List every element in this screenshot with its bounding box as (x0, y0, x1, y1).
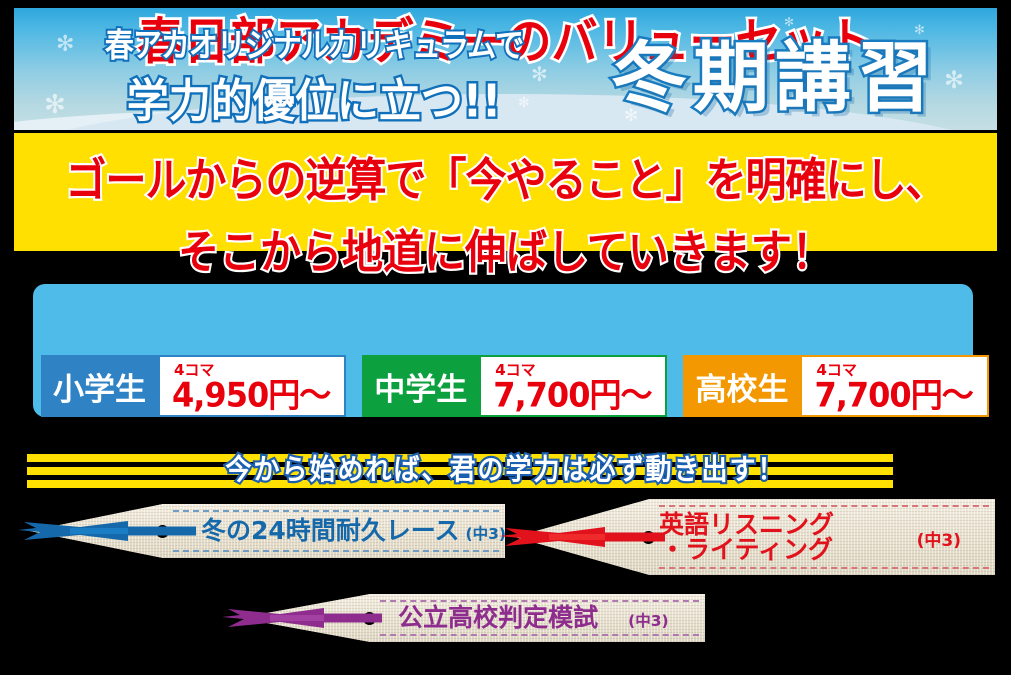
hero-subtitle: 春アカオリジナルカリキュラムで 学力的優位に立つ!! (88, 22, 540, 128)
course-tag-label: 冬の24時間耐久レース(中3) (201, 518, 506, 544)
price-card-grade-label: 小学生 (41, 355, 158, 417)
course-tag-note: (中3) (628, 612, 668, 630)
course-tag-label: 英語リスニング ・ライティング (659, 512, 834, 563)
course-tag-label: 公立高校判定模試(中3) (398, 605, 668, 631)
tag-hole (363, 612, 376, 625)
price-card-high-school[interactable]: 高校生 4コマ 7,700円〜 (683, 355, 988, 417)
poster-canvas: ✻ ✻ ✻ ✻ ✻ ✻ ✻ ✻ ✻ 春アカオリジナルカリキュラムで 学力的優位に… (0, 0, 1011, 675)
course-tag-english-listening-writing[interactable]: 英語リスニング ・ライティング (中3) (515, 499, 995, 575)
hero-subtitle-line1: 春アカオリジナルカリキュラムで (88, 19, 540, 67)
course-tag-title: 公立高校判定模試 (398, 603, 598, 632)
course-tag-title-line1: 英語リスニング (659, 512, 834, 538)
course-tag-note: (中3) (466, 525, 506, 543)
course-tag-endurance-race[interactable]: 冬の24時間耐久レース(中3) (30, 504, 505, 558)
price-card-grade-label: 中学生 (362, 355, 479, 417)
price-card-amount: 7,700円〜 (814, 378, 972, 412)
price-card-elementary[interactable]: 小学生 4コマ 4,950円〜 (41, 355, 346, 417)
course-tag-body: 冬の24時間耐久レース(中3) (30, 504, 505, 558)
price-card-amount: 4,950円〜 (172, 378, 330, 412)
hero-banner: ✻ ✻ ✻ ✻ ✻ ✻ ✻ ✻ ✻ 春アカオリジナルカリキュラムで 学力的優位に… (14, 8, 997, 130)
price-card-junior-high[interactable]: 中学生 4コマ 7,700円〜 (362, 355, 667, 417)
course-tag-body: 英語リスニング ・ライティング (中3) (515, 499, 995, 575)
course-tag-title-line2: ・ライティング (660, 537, 833, 563)
tag-hole (156, 525, 169, 538)
snowflake-icon: ✻ (44, 92, 66, 118)
stitch-line (380, 600, 700, 602)
stitch-line (380, 634, 700, 636)
course-tag-note: (中3) (917, 526, 961, 551)
course-tag-body: 公立高校判定模試(中3) (240, 594, 705, 642)
headline-line2: そこから地道に伸ばしていきます！ (14, 201, 997, 282)
headline-band: ゴールからの逆算で「今やること」を明確にし、 そこから地道に伸ばしていきます！ (14, 133, 997, 251)
stitch-line (173, 510, 500, 512)
headline-line1: ゴールからの逆算で「今やること」を明確にし、 (14, 129, 997, 210)
stitch-line (659, 567, 989, 569)
stripe-banner-text: 今から始めれば、君の学力は必ず動き出す！ (0, 447, 1011, 488)
page-title: 冬期講習 (611, 16, 939, 126)
stitch-line (659, 505, 989, 507)
price-card-grade-label: 高校生 (683, 355, 800, 417)
price-card-row: 小学生 4コマ 4,950円〜 中学生 4コマ 7,700円〜 高校生 4コマ … (41, 355, 973, 417)
course-tag-title: 冬の24時間耐久レース (201, 516, 460, 545)
course-tag-public-highschool-mock-exam[interactable]: 公立高校判定模試(中3) (240, 594, 705, 642)
price-card-amount-box: 4コマ 7,700円〜 (479, 355, 667, 417)
price-card-amount: 7,700円〜 (493, 378, 651, 412)
hero-subtitle-line2: 学力的優位に立つ!! (88, 65, 540, 130)
tag-hole (642, 531, 655, 544)
price-card-amount-box: 4コマ 4,950円〜 (158, 355, 346, 417)
stitch-line (173, 550, 500, 552)
price-card-amount-box: 4コマ 7,700円〜 (800, 355, 988, 417)
